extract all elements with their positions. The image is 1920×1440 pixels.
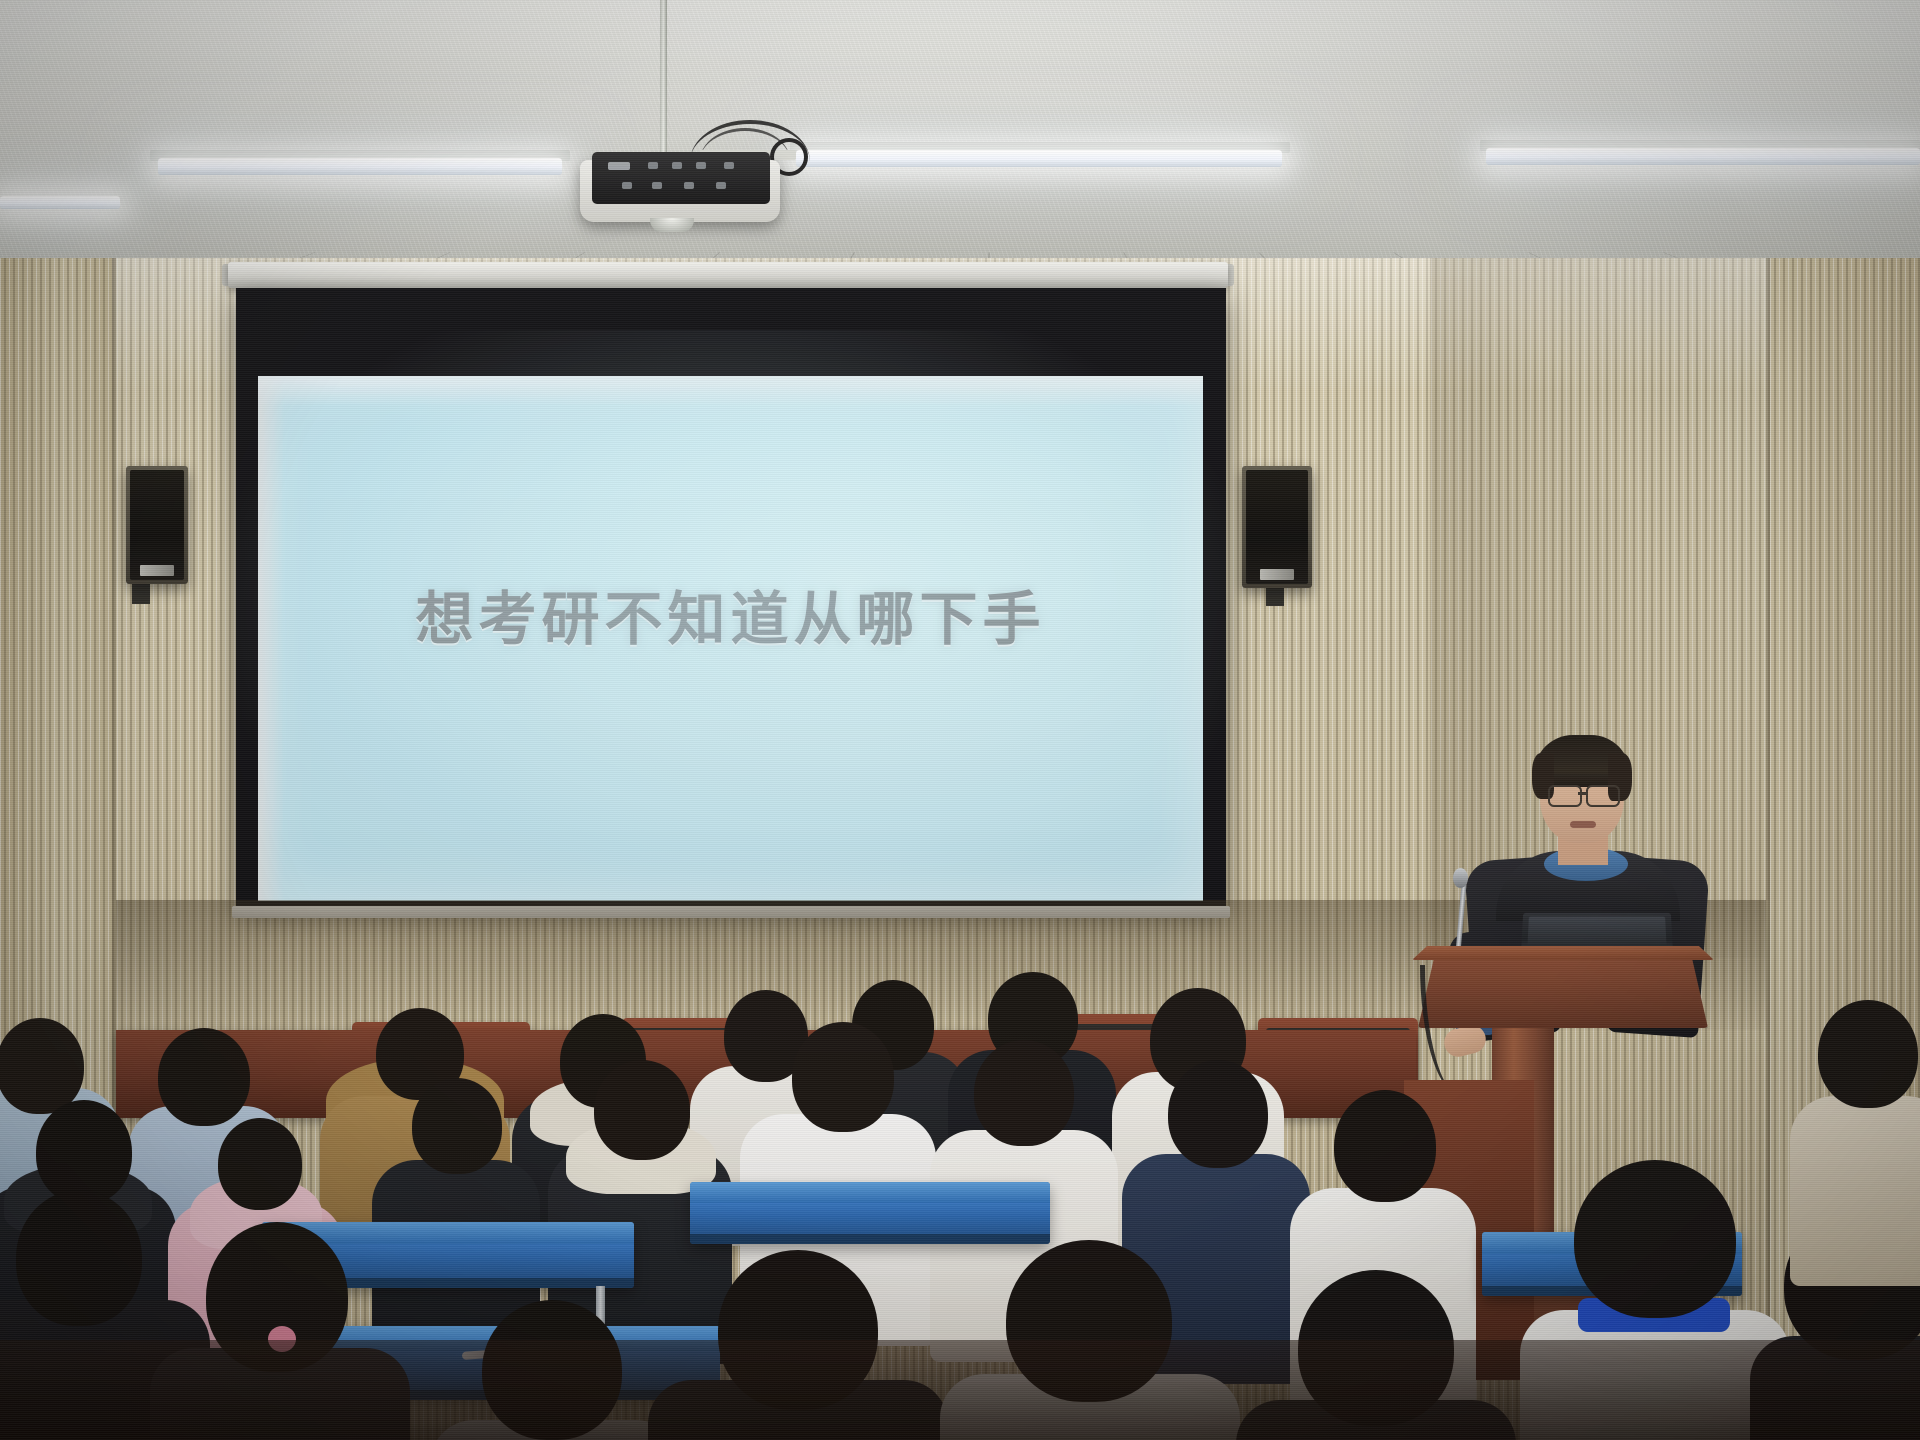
presenter-mouth bbox=[1570, 821, 1596, 828]
laptop-screen bbox=[1527, 917, 1666, 946]
speaker-bracket-left bbox=[132, 582, 150, 604]
microphone-head bbox=[1453, 868, 1468, 888]
student-right-aisle bbox=[1790, 1000, 1920, 1270]
wall-speaker-left bbox=[126, 466, 188, 584]
projector-mount-pole bbox=[660, 0, 667, 162]
lecture-hall-photo: 想考研不知道从哪下手 bbox=[0, 0, 1920, 1440]
floor-shadow bbox=[0, 1340, 1920, 1440]
fluorescent-tube-center bbox=[796, 150, 1282, 167]
presenter-glasses-right-lens bbox=[1586, 785, 1620, 807]
wall-speaker-right bbox=[1242, 466, 1312, 588]
projector-control-panel bbox=[592, 152, 770, 204]
student-desk bbox=[690, 1182, 1050, 1244]
slide-title-text: 想考研不知道从哪下手 bbox=[258, 572, 1203, 656]
speaker-grille-left bbox=[130, 470, 184, 580]
projected-slide: 想考研不知道从哪下手 bbox=[258, 376, 1203, 901]
speaker-logo-right bbox=[1260, 569, 1294, 580]
speaker-logo-left bbox=[140, 565, 174, 576]
projector-lens bbox=[650, 218, 694, 232]
projection-screen-housing bbox=[228, 262, 1228, 288]
fluorescent-tube-far-left bbox=[0, 196, 120, 209]
ceiling-shading bbox=[0, 0, 1920, 262]
fluorescent-tube-right bbox=[1486, 148, 1920, 165]
fluorescent-tube-left bbox=[158, 158, 562, 175]
speaker-bracket-right bbox=[1266, 586, 1284, 606]
speaker-grille-right bbox=[1246, 470, 1308, 584]
podium-front-edge bbox=[1412, 946, 1714, 960]
presenter-glasses-bridge bbox=[1578, 792, 1586, 795]
presenter-glasses-left-lens bbox=[1548, 785, 1582, 807]
ceiling bbox=[0, 0, 1920, 262]
slide-edge-glare-top bbox=[258, 376, 1203, 406]
